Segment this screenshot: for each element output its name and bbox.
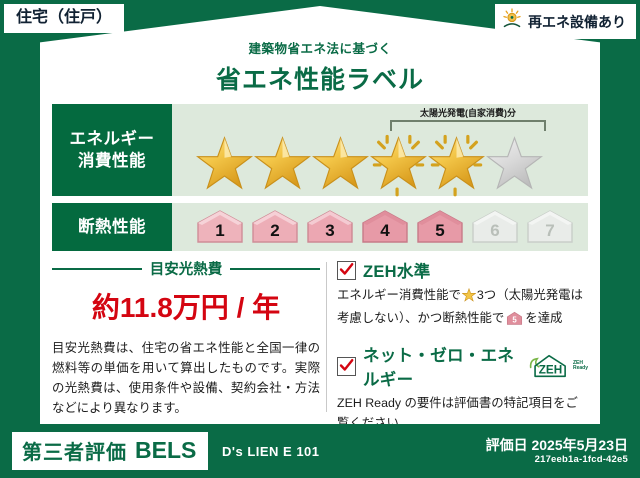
performance-section: エネルギー 消費性能 太陽光発電(自家消費)分	[52, 104, 588, 258]
star-filled-2	[254, 135, 311, 192]
property-name: D's LIEN E 101	[222, 444, 320, 459]
insulation-level-1: 1	[194, 209, 246, 245]
dwelling-type-tag: 住宅（住戸）	[4, 4, 124, 33]
star-filled-solar-4	[370, 135, 427, 192]
insulation-level-5-number: 5	[435, 222, 444, 245]
zeh-standard-text-star: 3つ（太陽光発電	[477, 288, 571, 302]
renewable-badge-label: 再エネ設備あり	[528, 15, 626, 29]
star-filled-1	[196, 135, 253, 192]
energy-performance-label: 住宅（住戸） 再エネ設備あり 建築物省エネ法に基づく 省エネ性能ラベル	[0, 0, 640, 478]
star-empty-6	[486, 135, 543, 192]
insulation-level-1-number: 1	[215, 222, 224, 245]
evaluation-date: 評価日 2025年5月23日	[486, 435, 628, 455]
zeh-standard-title: ZEH水準	[363, 258, 431, 282]
energy-performance-row: エネルギー 消費性能 太陽光発電(自家消費)分	[52, 104, 588, 196]
net-zero-energy-header: ネット・ゼロ・エネルギー ZEH ZEH Ready	[337, 342, 588, 390]
zeh-standard-description: エネルギー消費性能で3つ（太陽光発電は考慮しない）、かつ断熱性能で5を達成	[337, 285, 588, 332]
insulation-level-4: 4	[359, 209, 411, 245]
utility-cost-block: 目安光熱費 約11.8万円 / 年 目安光熱費は、住宅の省エネ性能と全国一律の燃…	[52, 258, 326, 418]
utility-cost-heading: 目安光熱費	[52, 258, 320, 279]
insulation-level-3: 3	[304, 209, 356, 245]
svg-text:ZEH: ZEH	[539, 364, 562, 377]
utility-cost-description: 目安光熱費は、住宅の省エネ性能と全国一律の燃料等の単価を用いて算出したものです。…	[52, 338, 320, 418]
zeh-ready-logo: ZEH ZEH Ready	[527, 353, 588, 379]
svg-text:5: 5	[513, 316, 518, 325]
zeh-standard-checkbox	[337, 261, 356, 280]
title-subtitle: 建築物省エネ法に基づく	[0, 38, 640, 57]
zeh-ready-caption: ZEH Ready	[573, 361, 588, 372]
bels-logo-text: BELS	[135, 437, 196, 464]
solar-sun-icon	[501, 8, 523, 35]
zeh-ready-caption-line2: Ready	[573, 365, 588, 371]
net-zero-energy-checkbox	[337, 357, 356, 376]
evaluation-date-label: 評価日	[486, 437, 528, 453]
star-filled-3	[312, 135, 369, 192]
label-footer: 第三者評価 BELS D's LIEN E 101 評価日 2025年5月23日…	[0, 424, 640, 478]
insulation-performance-row: 断熱性能 1 2	[52, 203, 588, 251]
energy-performance-label: エネルギー 消費性能	[52, 104, 172, 196]
renewable-equipment-badge: 再エネ設備あり	[495, 4, 636, 39]
insulation-level-7-number: 7	[545, 222, 554, 245]
insulation-level-3-number: 3	[325, 222, 334, 245]
solar-annotation-label: 太陽光発電(自家消費)分	[378, 106, 558, 119]
star-filled-solar-5	[428, 135, 485, 192]
insulation-performance-body: 1 2 3	[172, 203, 588, 251]
bels-certification-mark: 第三者評価 BELS	[12, 432, 208, 470]
zeh-standard-header: ZEH水準	[337, 258, 588, 282]
solar-annotation: 太陽光発電(自家消費)分	[378, 106, 558, 131]
title-main: 省エネ性能ラベル	[0, 60, 640, 96]
solar-bracket	[390, 120, 546, 131]
insulation-level-2: 2	[249, 209, 301, 245]
insulation-level-5: 5	[414, 209, 466, 245]
energy-label-line1: エネルギー	[70, 128, 155, 150]
insulation-level-6-number: 6	[490, 222, 499, 245]
insulation-level-4-number: 4	[380, 222, 389, 245]
energy-star-rating	[196, 135, 543, 192]
utility-cost-heading-label: 目安光熱費	[150, 258, 223, 279]
heading-rule-left	[52, 268, 142, 270]
evaluation-id: 217eeb1a-1fcd-42e5	[535, 454, 628, 465]
insulation-level-scale: 1 2 3	[194, 209, 576, 245]
evaluation-date-value: 2025年5月23日	[531, 437, 628, 453]
zeh-block: ZEH水準 エネルギー消費性能で3つ（太陽光発電は考慮しない）、かつ断熱性能で5…	[337, 258, 588, 418]
net-zero-energy-title: ネット・ゼロ・エネルギー	[363, 342, 516, 390]
insulation-level-6: 6	[469, 209, 521, 245]
heading-rule-right	[230, 268, 320, 270]
vertical-divider	[326, 262, 327, 412]
insulation-performance-label: 断熱性能	[52, 203, 172, 251]
energy-performance-body: 太陽光発電(自家消費)分	[172, 104, 588, 196]
third-party-evaluation-label: 第三者評価	[22, 436, 127, 465]
insulation-level-2-number: 2	[270, 222, 279, 245]
inline-house-level-icon: 5	[506, 311, 523, 332]
zeh-standard-text-1: エネルギー消費性能で	[337, 288, 461, 302]
utility-cost-value: 約11.8万円 / 年	[52, 286, 320, 326]
label-title-block: 建築物省エネ法に基づく 省エネ性能ラベル	[0, 38, 640, 96]
energy-label-line2: 消費性能	[78, 150, 146, 172]
insulation-level-7: 7	[524, 209, 576, 245]
inline-star-icon	[462, 288, 476, 308]
lower-section: 目安光熱費 約11.8万円 / 年 目安光熱費は、住宅の省エネ性能と全国一律の燃…	[52, 258, 588, 418]
zeh-standard-text-3: を達成	[525, 311, 562, 325]
